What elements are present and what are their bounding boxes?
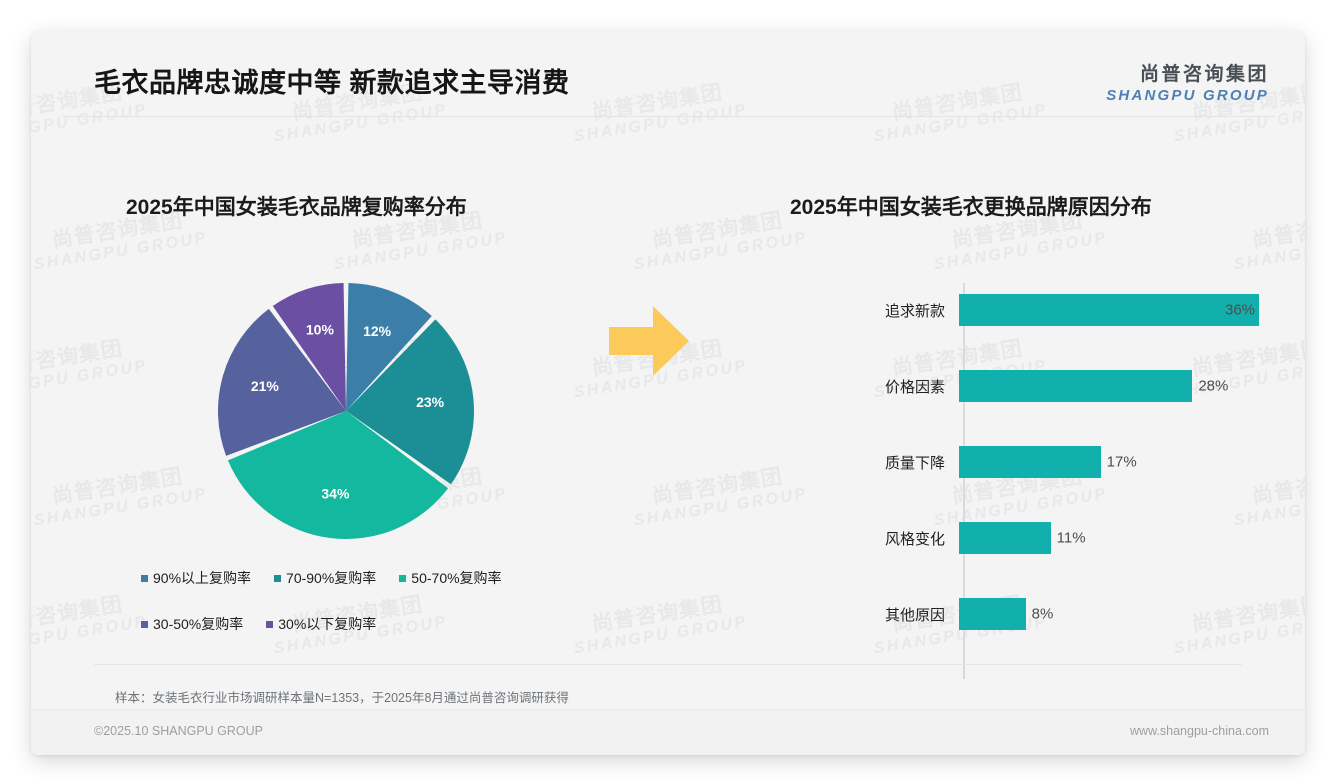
legend-label: 70-90%复购率 (286, 568, 376, 588)
bar-value-label: 8% (1032, 606, 1054, 623)
bar-chart-row: 风格变化11% (873, 517, 1293, 559)
sample-note: 样本：女装毛衣行业市场调研样本量N=1353，于2025年8月通过尚普咨询调研获… (115, 687, 569, 706)
legend-item-70-90[interactable]: 70-90%复购率 (274, 568, 376, 588)
bar-value-label: 17% (1107, 454, 1137, 471)
bar-category-label: 追求新款 (873, 300, 957, 321)
right-arrow-icon (609, 303, 691, 384)
footnote-divider (94, 664, 1242, 665)
legend-swatch-icon (399, 575, 406, 582)
pie-slice-label: 12% (363, 323, 392, 339)
legend-swatch-icon (274, 575, 281, 582)
legend-swatch-icon (266, 621, 273, 628)
legend-swatch-icon (141, 575, 148, 582)
legend-item-50-70[interactable]: 50-70%复购率 (399, 568, 501, 588)
legend-item-30-50[interactable]: 30-50%复购率 (141, 614, 243, 634)
logo-chinese-text: 尚普咨询集团 (1106, 59, 1269, 86)
bar-category-label: 风格变化 (873, 528, 957, 549)
bar-fill[interactable] (959, 370, 1192, 402)
bar-chart-row: 追求新款36% (873, 289, 1293, 331)
bar-chart-panel: 2025年中国女装毛衣更换品牌原因分布 追求新款36%价格因素28%质量下降17… (668, 131, 1305, 651)
bar-chart-row: 其他原因8% (873, 593, 1293, 635)
bar-track: 8% (957, 593, 1293, 635)
slide-footer: ©2025.10 SHANGPU GROUP www.shangpu-china… (31, 709, 1305, 755)
brand-logo: 尚普咨询集团 SHANGPU GROUP (1106, 59, 1269, 104)
legend-label: 50-70%复购率 (411, 568, 501, 588)
pie-slice-label: 34% (321, 486, 350, 502)
bar-chart: 追求新款36%价格因素28%质量下降17%风格变化11%其他原因8% (873, 283, 1293, 685)
copyright-text: ©2025.10 SHANGPU GROUP (94, 724, 263, 738)
bar-track: 11% (957, 517, 1293, 559)
website-link[interactable]: www.shangpu-china.com (1130, 724, 1269, 738)
bar-fill[interactable] (959, 598, 1026, 630)
bar-category-label: 质量下降 (873, 452, 957, 473)
legend-row-2: 30-50%复购率 30%以下复购率 (141, 614, 611, 634)
pie-chart-title: 2025年中国女装毛衣品牌复购率分布 (126, 191, 467, 221)
pie-chart-panel: 2025年中国女装毛衣品牌复购率分布 12%23%34%21%10% 90%以上… (31, 131, 668, 651)
bar-value-label: 11% (1057, 530, 1086, 547)
bar-chart-row: 质量下降17% (873, 441, 1293, 483)
bar-fill[interactable] (959, 522, 1051, 554)
bar-track: 28% (957, 365, 1293, 407)
legend-label: 30-50%复购率 (153, 614, 243, 634)
bar-chart-row: 价格因素28% (873, 365, 1293, 407)
bar-category-label: 其他原因 (873, 604, 957, 625)
pie-slice-label: 21% (251, 378, 280, 394)
bar-category-label: 价格因素 (873, 376, 957, 397)
bar-fill[interactable] (959, 294, 1259, 326)
bar-value-label: 36% (1225, 302, 1255, 319)
pie-chart: 12%23%34%21%10% (216, 281, 476, 541)
legend-label: 30%以下复购率 (278, 614, 376, 634)
logo-english-text: SHANGPU GROUP (1106, 87, 1269, 104)
pie-slice-label: 23% (416, 394, 445, 410)
bar-fill[interactable] (959, 446, 1101, 478)
footer-divider (31, 709, 1305, 710)
legend-row-1: 90%以上复购率 70-90%复购率 50-70%复购率 (141, 568, 611, 588)
bar-track: 36% (957, 289, 1293, 331)
pie-chart-svg: 12%23%34%21%10% (216, 281, 476, 541)
header-divider (63, 116, 1275, 117)
bar-track: 17% (957, 441, 1293, 483)
bar-value-label: 28% (1198, 378, 1228, 395)
legend-item-90-plus[interactable]: 90%以上复购率 (141, 568, 251, 588)
pie-slice-label: 10% (306, 321, 335, 337)
slide-header: 毛衣品牌忠诚度中等 新款追求主导消费 尚普咨询集团 SHANGPU GROUP (31, 31, 1305, 123)
bar-chart-title: 2025年中国女装毛衣更换品牌原因分布 (790, 191, 1152, 221)
legend-label: 90%以上复购率 (153, 568, 251, 588)
page-title: 毛衣品牌忠诚度中等 新款追求主导消费 (94, 61, 570, 100)
legend-swatch-icon (141, 621, 148, 628)
legend-item-under-30[interactable]: 30%以下复购率 (266, 614, 376, 634)
pie-legend: 90%以上复购率 70-90%复购率 50-70%复购率 30-50%复购率 (141, 568, 611, 660)
slide-canvas: 尚普咨询集团SHANGPU GROUP尚普咨询集团SHANGPU GROUP尚普… (31, 31, 1305, 755)
